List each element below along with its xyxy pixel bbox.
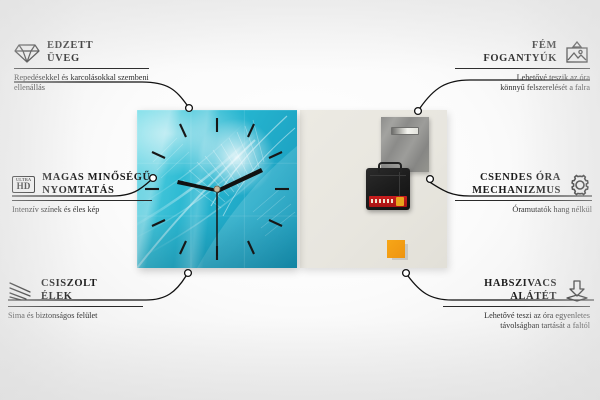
callout-title: FÉM FOGANTYÚK [455,40,590,65]
foam-pad-arrow-icon [564,279,590,303]
callout-divider [455,68,590,69]
callout-title: HABSZIVACS ALÁTÉT [443,278,590,303]
foam-pad [387,240,405,258]
clock-minute-hand [217,168,263,193]
callout-foam-pad: HABSZIVACS ALÁTÉT Lehetővé teszi az óra … [443,278,590,331]
callout-title-line2: ÉLEK [41,291,97,304]
callout-title-line2: FOGANTYÚK [483,53,557,66]
callout-title-line2: ÜVEG [47,53,93,66]
callout-description: Lehetővé teszi az óra egyenletes távolsá… [443,311,590,331]
callout-title-line2: ALÁTÉT [510,291,557,304]
callout-description: Repedésekkel és karcolásokkal szembeni e… [14,73,149,93]
product-image [137,110,447,268]
callout-divider [12,200,152,201]
callout-title: CSENDES ÓRA MECHANIZMUS [455,172,592,197]
leader-endpoint-foam-pad [403,270,410,277]
picture-hanger-icon [564,41,590,65]
clock-front-face [137,110,297,268]
polished-edges-icon [8,280,34,302]
callout-divider [8,306,143,307]
callout-title: ultra HD MAGAS MINŐSÉGŰ NYOMTATÁS [12,172,152,197]
callout-title-line1: CSENDES ÓRA [480,172,561,185]
callout-hd-print: ultra HD MAGAS MINŐSÉGŰ NYOMTATÁS Intenz… [12,172,152,215]
clock-mechanism [366,168,410,210]
battery-label-stripes [371,199,395,203]
callout-title-line2: MECHANIZMUS [472,185,561,198]
battery [369,196,407,207]
leader-endpoint-polished-edges [185,270,192,277]
battery-plus-terminal [396,197,404,206]
callout-description: Intenzív színek és éles kép [12,205,152,215]
callout-divider [14,68,149,69]
callout-title: EDZETT ÜVEG [14,40,149,65]
clock-hour-hand [177,180,217,192]
callout-title-line1: MAGAS MINŐSÉGŰ [42,172,150,185]
callout-title-line1: EDZETT [47,40,93,53]
callout-description: Lehetővé teszik az óra könnyű felszerelé… [455,73,590,93]
callout-metal-handles: FÉM FOGANTYÚK Lehetővé teszik az óra kön… [455,40,590,93]
mechanism-seam-vertical [399,172,400,196]
callout-quiet-mechanism: CSENDES ÓRA MECHANIZMUS Óramutatók hang … [455,172,592,215]
callout-description-line2: távolságban tartását a faltól [443,321,590,331]
callout-description-line1: Lehetővé teszi az óra egyenletes [443,311,590,321]
callout-divider [455,200,592,201]
callout-divider [443,306,590,307]
callout-description-line1: Lehetővé teszik az óra [455,73,590,83]
diamond-icon [14,42,40,64]
gear-icon [568,173,592,197]
clock-center-cap [214,186,220,192]
clock-dial [137,110,297,268]
callout-title-line2: NYOMTATÁS [42,185,150,198]
callout-title-line1: CSISZOLT [41,278,97,291]
callout-title-line1: FÉM [532,40,557,53]
callout-title-line1: HABSZIVACS [484,278,557,291]
ultra-hd-icon-large-text: HD [17,182,31,191]
infographic-canvas: EDZETT ÜVEG Repedésekkel és karcolásokka… [0,0,600,400]
callout-title: CSISZOLT ÉLEK [8,278,143,303]
callout-tempered-glass: EDZETT ÜVEG Repedésekkel és karcolásokka… [14,40,149,93]
callout-description: Óramutatók hang nélkül [455,205,592,215]
ultra-hd-icon: ultra HD [12,176,35,193]
hanger-slot [391,127,419,135]
callout-description-line2: könnyű felszerelését a falra [455,83,590,93]
callout-polished-edges: CSISZOLT ÉLEK Sima és biztonságos felüle… [8,278,143,321]
mechanism-seam [370,175,406,176]
callout-description: Sima és biztonságos felület [8,311,143,321]
